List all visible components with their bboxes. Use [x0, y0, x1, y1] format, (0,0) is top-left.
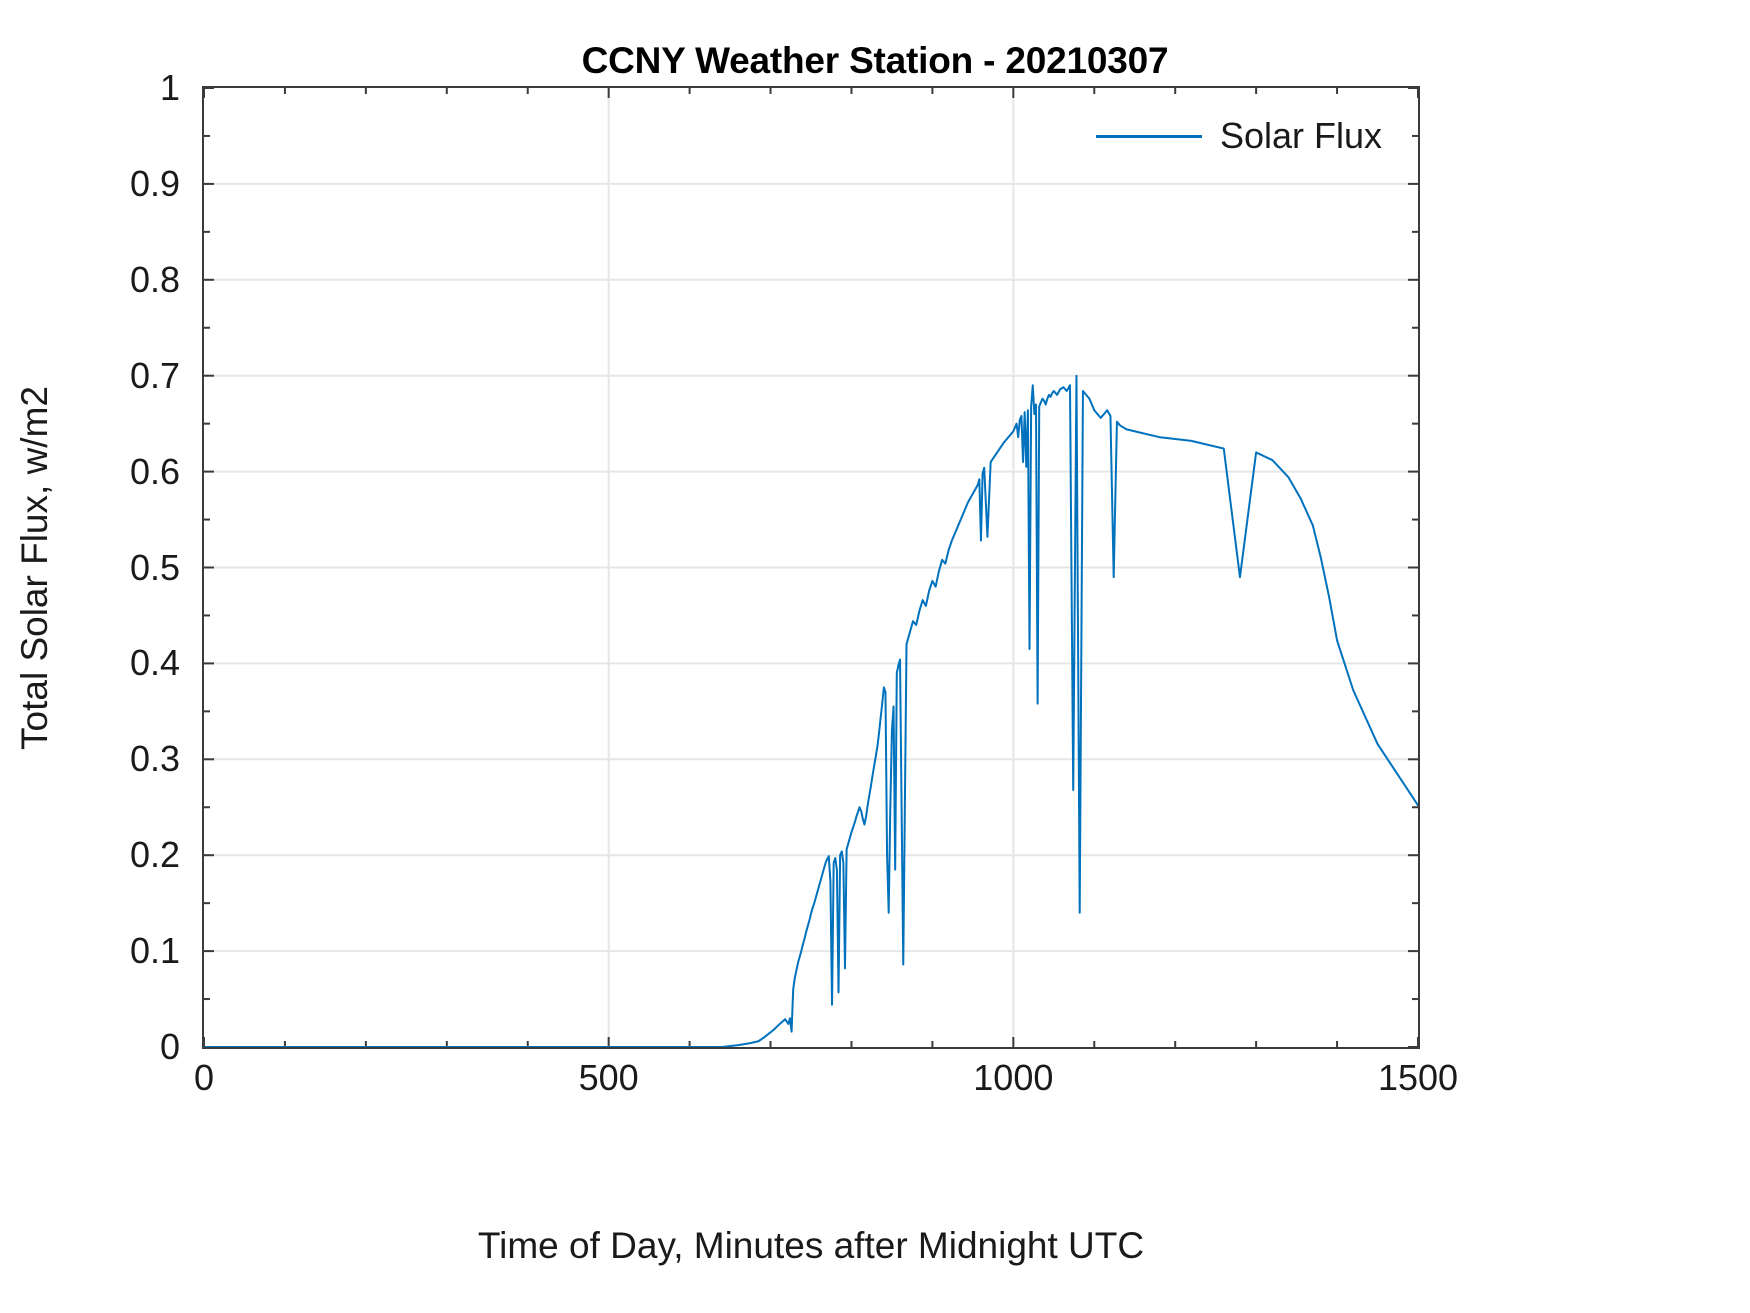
legend-label-solar-flux: Solar Flux: [1220, 118, 1382, 154]
y-tick-label: 0.3: [130, 741, 180, 777]
y-tick-label-group: 00.10.20.30.40.50.60.70.80.91: [20, 86, 180, 1049]
plot-area: [202, 86, 1420, 1049]
y-tick-label: 1: [160, 70, 180, 106]
x-tick-label-group: 050010001500: [202, 1060, 1420, 1110]
x-axis-label: Time of Day, Minutes after Midnight UTC: [202, 1225, 1420, 1267]
chart-title: CCNY Weather Station - 20210307: [0, 40, 1750, 82]
x-tick-label: 500: [579, 1060, 639, 1096]
legend-line-swatch-solar-flux: [1096, 135, 1202, 138]
y-tick-label: 0: [160, 1029, 180, 1065]
x-tick-label: 0: [194, 1060, 214, 1096]
y-tick-label: 0.4: [130, 645, 180, 681]
y-tick-label: 0.1: [130, 933, 180, 969]
y-tick-label: 0.5: [130, 550, 180, 586]
x-tick-label: 1500: [1378, 1060, 1458, 1096]
y-tick-label: 0.7: [130, 358, 180, 394]
y-tick-label: 0.8: [130, 262, 180, 298]
y-tick-label: 0.6: [130, 454, 180, 490]
y-tick-label: 0.2: [130, 837, 180, 873]
data-series-layer: [204, 88, 1418, 1047]
legend: Solar Flux: [1096, 118, 1382, 154]
y-tick-label: 0.9: [130, 166, 180, 202]
x-tick-label: 1000: [973, 1060, 1053, 1096]
plot-inner: [204, 88, 1418, 1047]
series-line: [204, 376, 1418, 1047]
figure-canvas: CCNY Weather Station - 20210307 Total So…: [0, 0, 1750, 1313]
